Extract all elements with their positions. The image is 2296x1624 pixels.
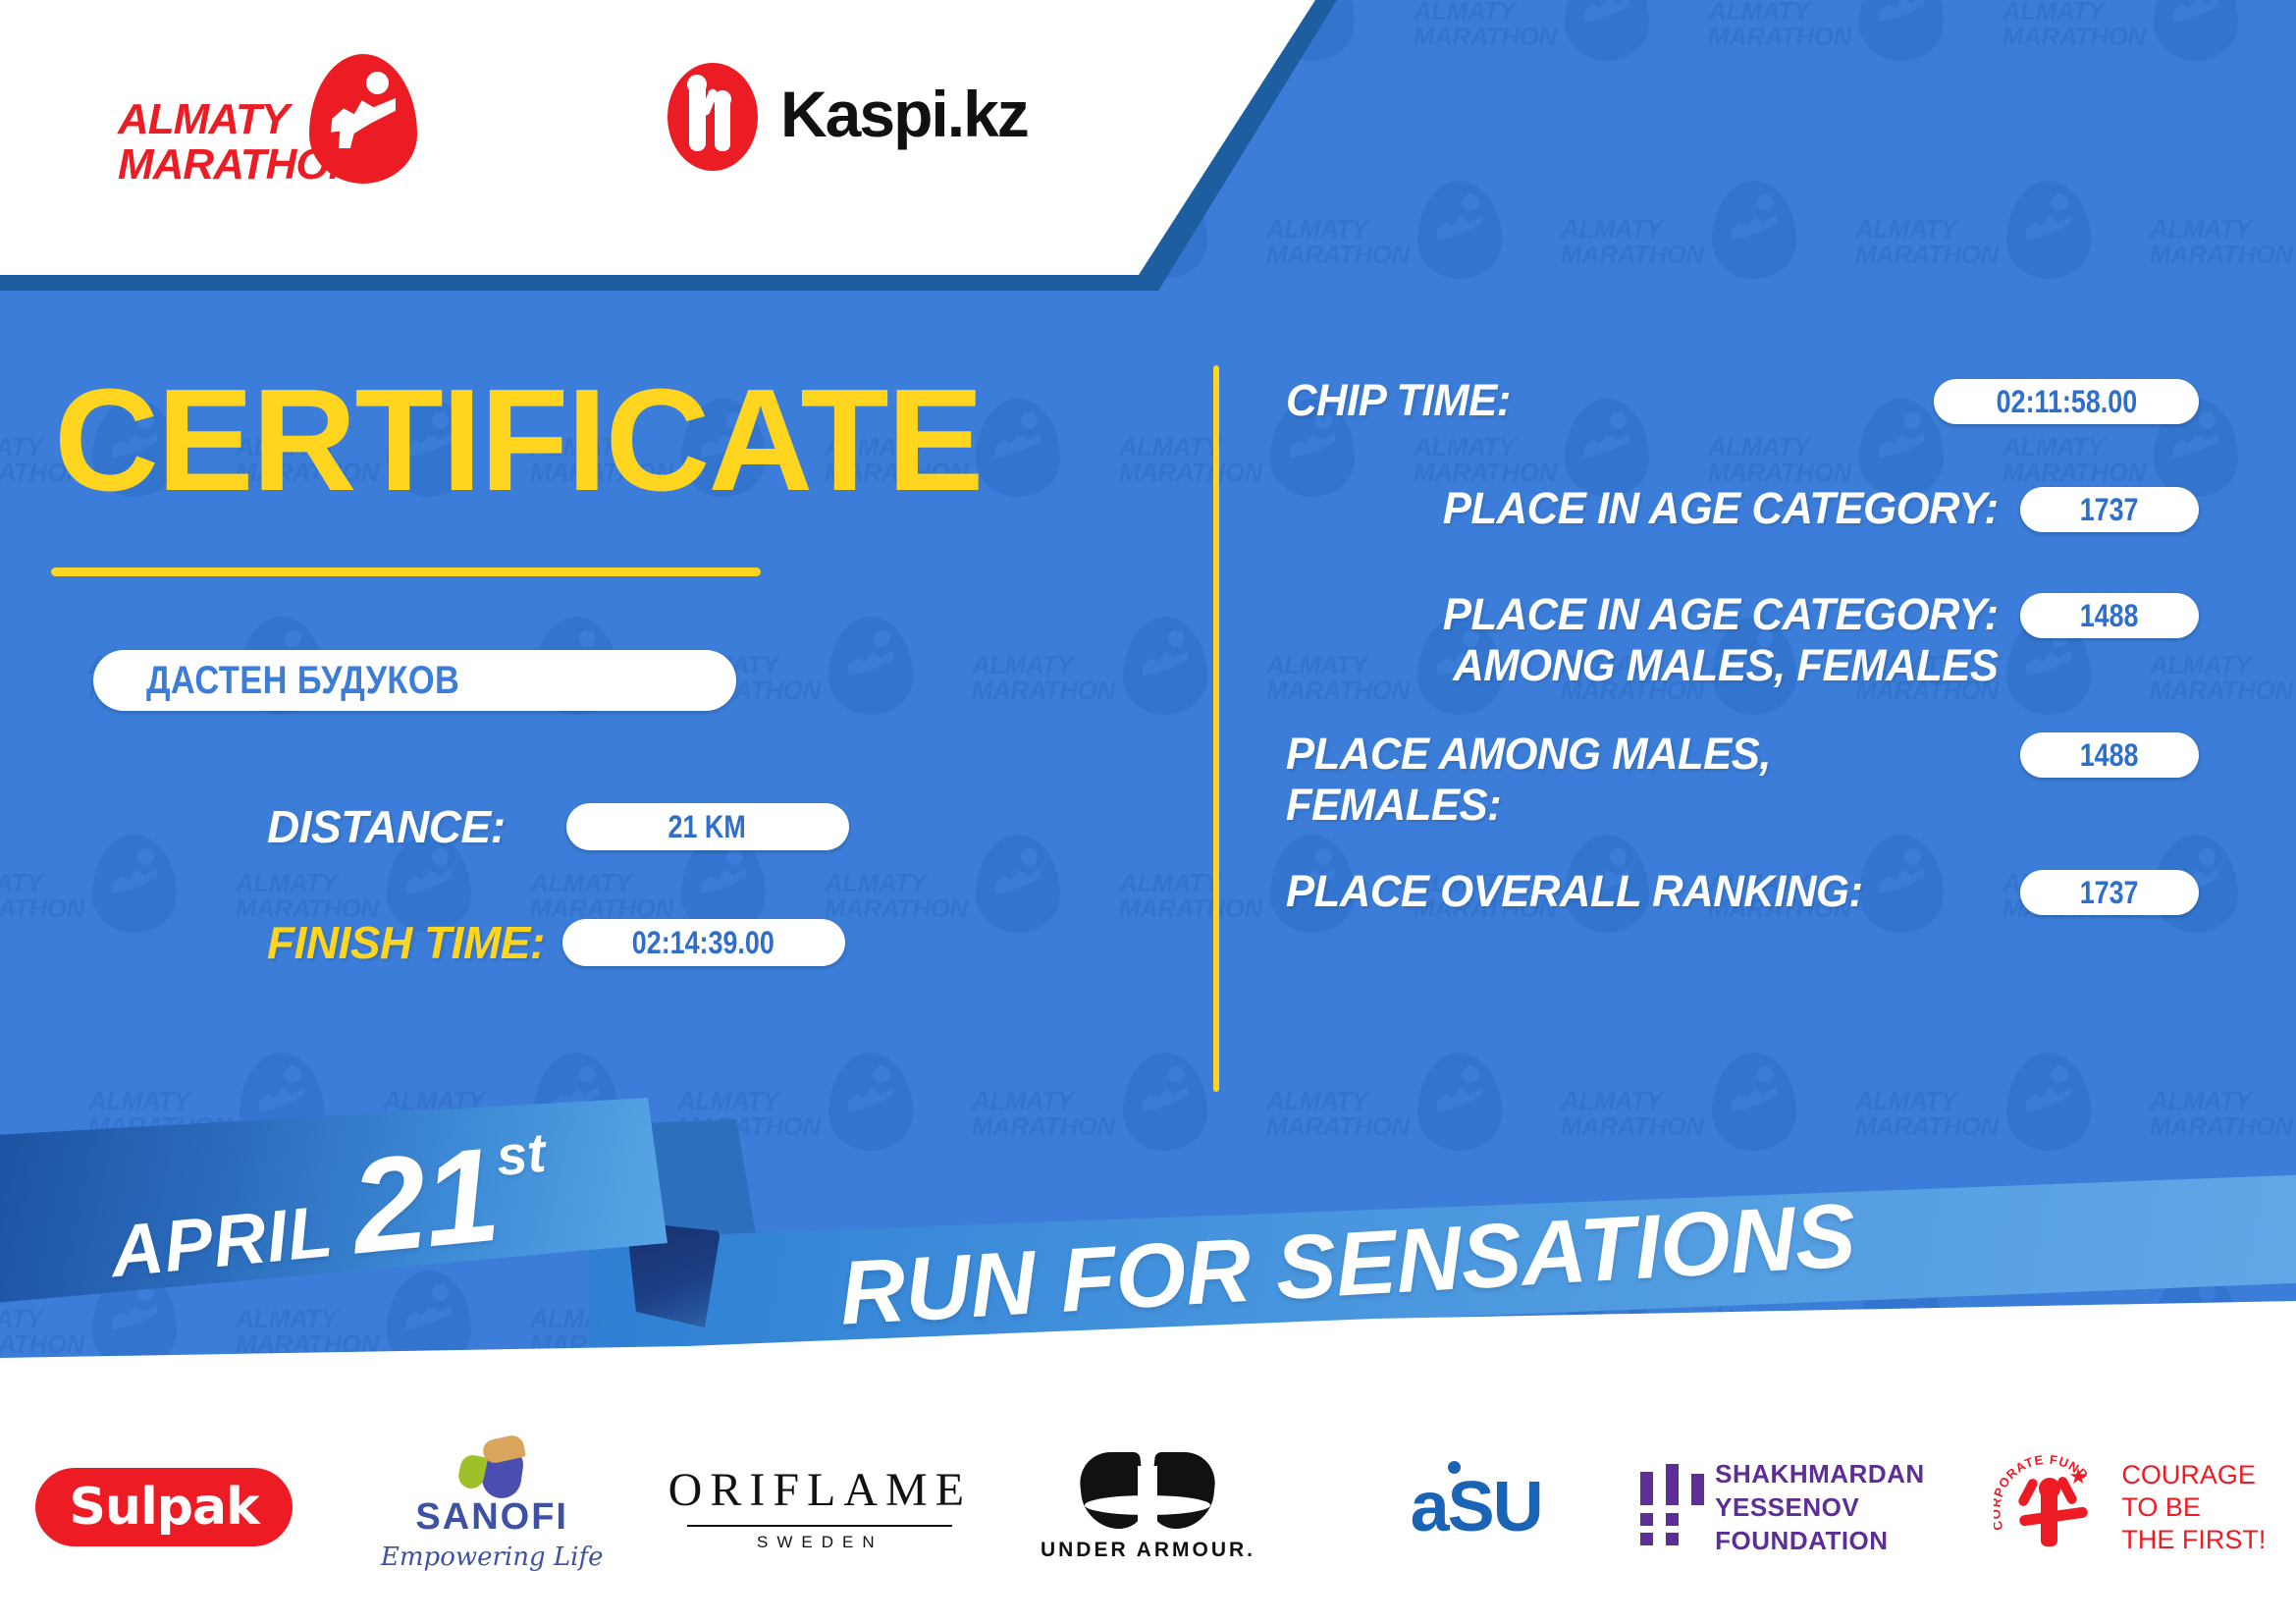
stat-label: PLACE AMONG MALES,FEMALES: — [1286, 729, 1999, 831]
sponsor-oriflame: ORIFLAME SWEDEN — [656, 1429, 984, 1586]
sponsor-under-armour: UNDER ARMOUR. — [984, 1429, 1311, 1586]
stat-row: CHIP TIME: 02:11:58.00 — [1286, 375, 2199, 426]
participant-name-field: ДАСТЕН БУДУКОВ — [93, 650, 736, 711]
title-underline — [51, 568, 761, 576]
watermark-tile: ALMATYMARATHON — [825, 833, 1070, 1000]
yessenov-line-1: SHAKHMARDAN YESSENOV — [1715, 1457, 1968, 1524]
stat-value: 1488 — [2080, 598, 2139, 634]
stat-label: PLACE IN AGE CATEGORY: — [1286, 483, 1999, 534]
asu-text: aSU — [1411, 1468, 1542, 1546]
oriflame-wordmark: ORIFLAME — [668, 1463, 972, 1517]
watermark-tile: ALMATYMARATHON — [2150, 179, 2296, 346]
star-icon: ★ — [2068, 1466, 2088, 1488]
watermark-tile: ALMATYMARATHON — [1266, 179, 1512, 346]
watermark-tile: ALMATYMARATHON — [2002, 0, 2248, 128]
under-armour-icon — [1081, 1452, 1214, 1529]
finish-time-label: FINISH TIME: — [267, 916, 545, 969]
courage-line-1: COURAGE — [2121, 1459, 2266, 1491]
stat-value-field: 1737 — [2020, 870, 2199, 915]
distance-label: DISTANCE: — [267, 800, 506, 853]
stat-row: PLACE AMONG MALES,FEMALES: 1488 — [1286, 729, 2199, 831]
stat-value-field: 1488 — [2020, 732, 2199, 778]
stat-row: PLACE OVERALL RANKING: 1737 — [1286, 866, 2199, 917]
stat-row: PLACE IN AGE CATEGORY: 1737 — [1286, 483, 2199, 534]
event-day-ordinal: st — [494, 1120, 549, 1188]
sulpak-wordmark: Sulpak — [35, 1468, 292, 1546]
marathon-line-1: ALMATY — [118, 97, 319, 142]
kaspi-people-icon — [667, 63, 758, 171]
event-month: APRIL — [107, 1189, 337, 1293]
logo-row: ALMATY MARATHON Kaspi.kz — [0, 0, 1139, 275]
courage-line-2: TO BE — [2121, 1491, 2266, 1524]
oriflame-rule — [687, 1525, 952, 1527]
sponsor-asu: aSU — [1312, 1429, 1640, 1586]
stat-value-field: 1488 — [2020, 593, 2199, 638]
watermark-tile: ALMATYMARATHON — [0, 833, 187, 1000]
participant-name-value: ДАСТЕН БУДУКОВ — [146, 659, 459, 703]
stat-label: CHIP TIME: — [1286, 375, 1914, 426]
stat-value-field: 02:11:58.00 — [1934, 379, 2199, 424]
sanofi-tagline: Empowering Life — [381, 1543, 604, 1572]
kaspi-logo: Kaspi.kz — [667, 61, 1080, 179]
almaty-marathon-wordmark: ALMATY MARATHON — [118, 97, 319, 188]
page-title: CERTIFICATE — [54, 368, 982, 514]
courage-line-3: THE FIRST! — [2121, 1524, 2266, 1556]
marathon-line-2: MARATHON — [118, 142, 319, 188]
watermark-tile: ALMATYMARATHON — [972, 615, 1217, 782]
kaspi-wordmark: Kaspi.kz — [780, 77, 1028, 151]
sponsor-sanofi: SANOFI Empowering Life — [328, 1429, 656, 1586]
oriflame-subtitle: SWEDEN — [668, 1533, 972, 1552]
distance-value-field: 21 KM — [566, 803, 849, 850]
sponsor-courage-fund: CORPORATE FUND ★ COURAGE TO BE THE FIRST… — [1968, 1429, 2296, 1586]
courage-fund-icon: CORPORATE FUND ★ — [1998, 1452, 2108, 1562]
sponsor-yessenov-foundation: SHAKHMARDAN YESSENOV FOUNDATION — [1640, 1429, 1968, 1586]
stat-label: PLACE OVERALL RANKING: — [1286, 866, 1999, 917]
stat-value: 1737 — [2080, 875, 2139, 911]
watermark-tile: ALMATYMARATHON — [1708, 0, 1953, 128]
sanofi-mark-icon — [455, 1437, 528, 1498]
asu-wordmark: aSU — [1411, 1467, 1542, 1547]
event-day: 21 — [345, 1117, 504, 1283]
stat-value: 1737 — [2080, 492, 2139, 528]
almaty-marathon-logo: ALMATY MARATHON — [118, 54, 442, 201]
stat-label: PLACE IN AGE CATEGORY:AMONG MALES, FEMAL… — [1286, 589, 1999, 691]
under-armour-wordmark: UNDER ARMOUR. — [1041, 1539, 1255, 1562]
watermark-tile: ALMATYMARATHON — [1561, 179, 1806, 346]
yessenov-line-2: FOUNDATION — [1715, 1524, 1968, 1557]
stat-value-field: 1737 — [2020, 487, 2199, 532]
sponsor-sulpak: Sulpak — [0, 1429, 328, 1586]
finish-time-value-field: 02:14:39.00 — [562, 919, 845, 966]
finish-time-row: FINISH TIME: 02:14:39.00 — [267, 916, 845, 969]
vertical-divider — [1213, 365, 1219, 1092]
sponsor-logos: Sulpak SANOFI Empowering Life ORIFLAME S… — [0, 1419, 2296, 1596]
watermark-tile: ALMATYMARATHON — [1414, 0, 1659, 128]
finish-time-value: 02:14:39.00 — [632, 925, 774, 961]
watermark-tile: ALMATYMARATHON — [1855, 179, 2101, 346]
stat-value: 1488 — [2080, 737, 2139, 774]
distance-row: DISTANCE: 21 KM — [267, 800, 849, 853]
certificate-canvas: ALMATYMARATHONALMATYMARATHONALMATYMARATH… — [0, 0, 2296, 1624]
stat-row: PLACE IN AGE CATEGORY:AMONG MALES, FEMAL… — [1286, 589, 2199, 691]
asu-dot-icon — [1448, 1461, 1461, 1474]
sanofi-wordmark: SANOFI — [381, 1496, 604, 1539]
distance-value: 21 KM — [668, 809, 746, 845]
yessenov-bars-icon — [1640, 1464, 1689, 1550]
stat-value: 02:11:58.00 — [1996, 384, 2136, 420]
